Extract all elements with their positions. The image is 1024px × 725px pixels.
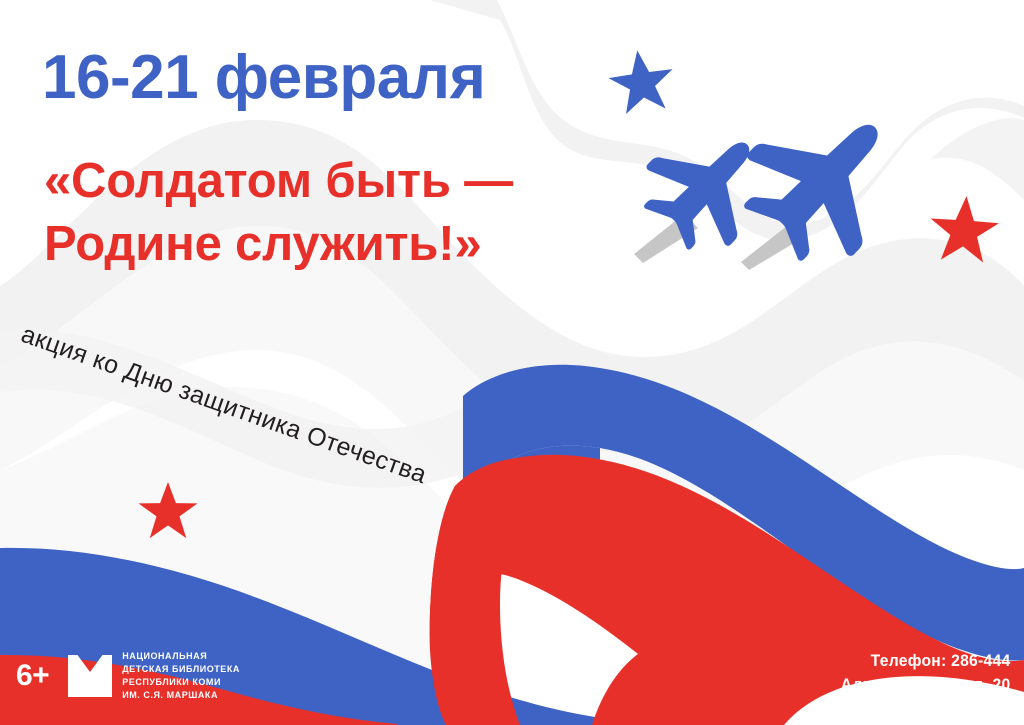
crown-m-mark-icon [68,655,112,697]
star-red-left-icon [139,482,198,538]
star-blue-top-icon [605,46,678,116]
event-date: 16-21 февраля [42,47,485,109]
contact-info: Телефон: 286-444 Адрес: Советская, 20 [840,649,1010,697]
event-slogan: «Солдатом быть — Родине служить!» [44,150,513,275]
star-red-right-icon [928,194,1001,264]
poster-canvas: 16-21 февраля «Солдатом быть — Родине сл… [0,0,1024,725]
airplane-large-icon [719,76,927,284]
age-rating-badge: 6+ [16,661,49,691]
library-logo-block: 6+ НАЦИОНАЛЬНАЯ ДЕТСКАЯ БИБЛИОТЕКА РЕСПУ… [16,650,240,702]
library-name: НАЦИОНАЛЬНАЯ ДЕТСКАЯ БИБЛИОТЕКА РЕСПУБЛИ… [122,650,240,702]
